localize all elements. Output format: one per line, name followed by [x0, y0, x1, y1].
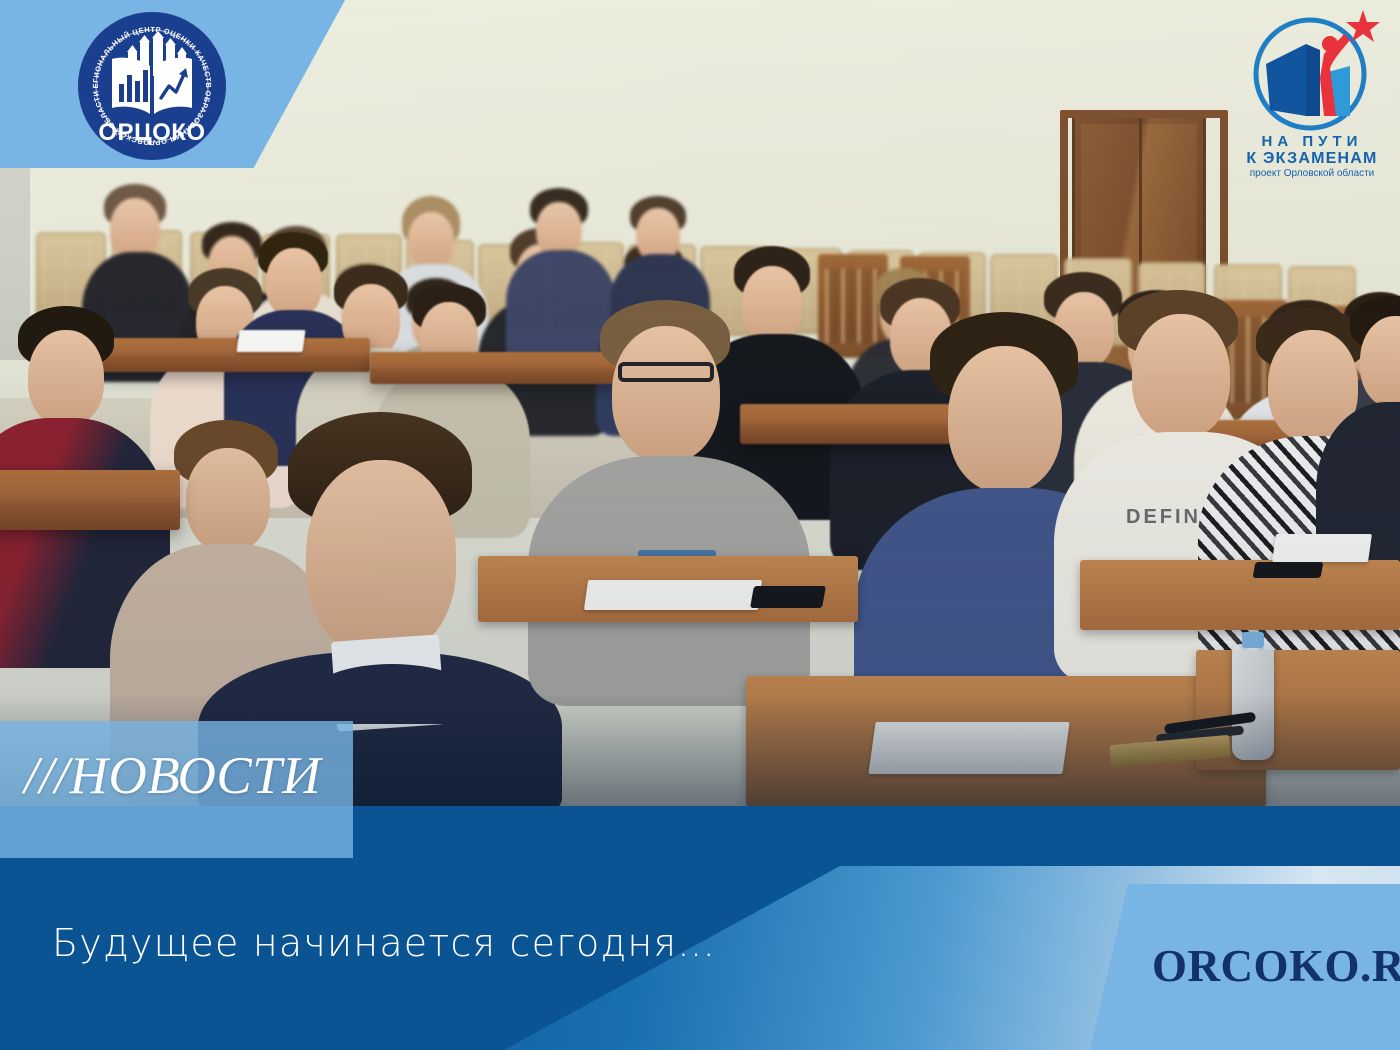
svg-text:ОРЦОКО: ОРЦОКО: [98, 119, 205, 146]
news-banner-label: ///НОВОСТИ: [24, 746, 364, 806]
calculator: [1253, 562, 1324, 578]
svg-text:проект Орловской области: проект Орловской области: [1250, 167, 1374, 179]
na-puti-k-ekzamenam-icon[interactable]: НА ПУТИ К ЭКЗАМЕНАМ проект Орловской обл…: [1232, 6, 1392, 186]
footer-tagline: Будущее начинается сегодня…: [52, 918, 716, 968]
calculator: [750, 586, 826, 608]
orcoko-emblem-icon[interactable]: РЕГИОНАЛЬНЫЙ ЦЕНТР ОЦЕНКИ КАЧЕСТВА ОБРАЗ…: [78, 12, 226, 160]
svg-text:НА ПУТИ: НА ПУТИ: [1262, 133, 1363, 150]
news-banner-canvas: DEFIN: [0, 0, 1400, 1050]
site-url-text[interactable]: ORCOKO.RU: [1152, 941, 1400, 991]
svg-text:К ЭКЗАМЕНАМ: К ЭКЗАМЕНАМ: [1246, 150, 1377, 167]
